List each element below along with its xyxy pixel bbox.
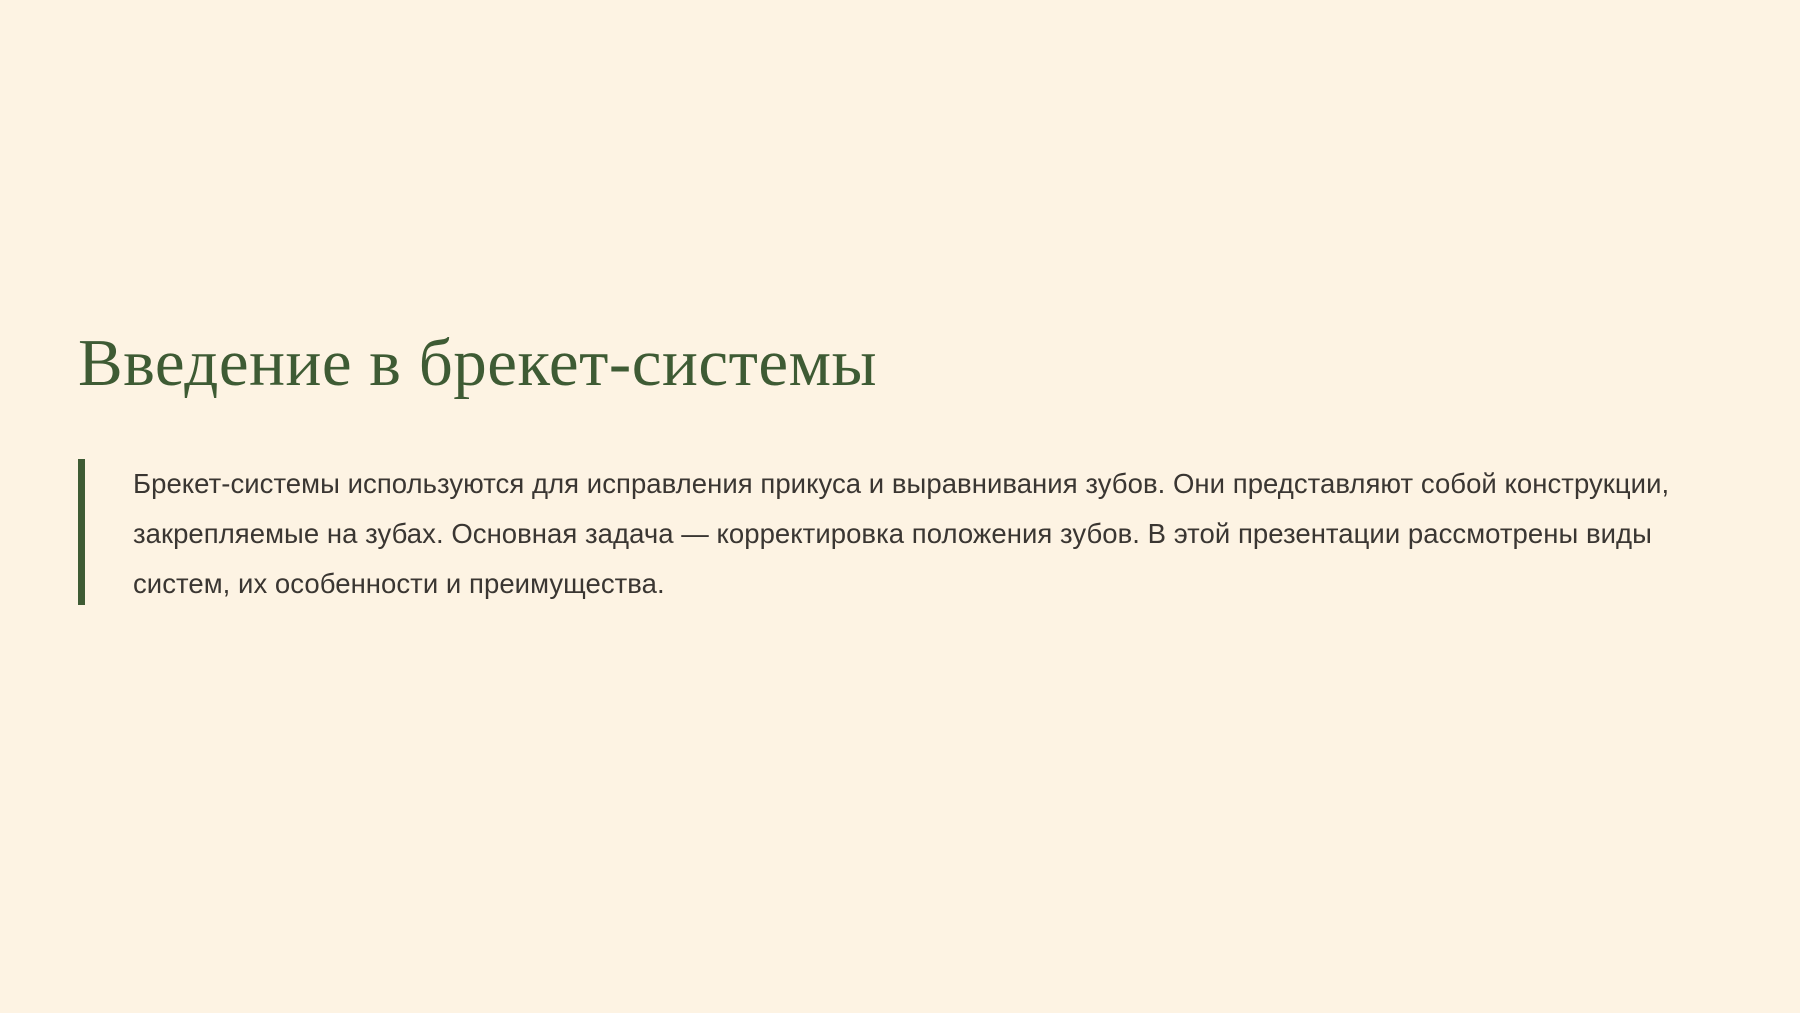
body-paragraph: Брекет-системы используются для исправле… xyxy=(133,459,1740,609)
body-block: Брекет-системы используются для исправле… xyxy=(78,459,1740,609)
accent-bar xyxy=(78,459,85,605)
slide-content: Введение в брекет-системы Брекет-системы… xyxy=(78,330,1740,609)
page-title: Введение в брекет-системы xyxy=(78,330,1740,397)
slide-canvas: Введение в брекет-системы Брекет-системы… xyxy=(0,0,1800,1013)
